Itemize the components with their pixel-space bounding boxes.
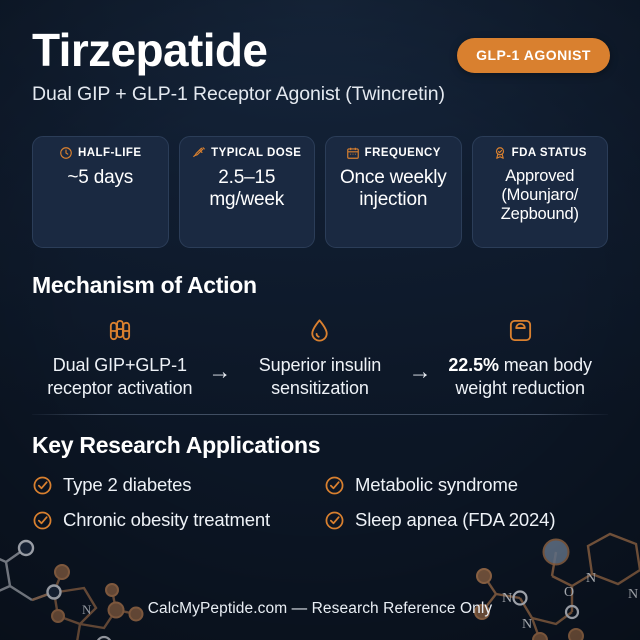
calendar-icon bbox=[346, 146, 360, 160]
status-badge: GLP-1 AGONIST bbox=[457, 38, 610, 73]
page-subtitle: Dual GIP + GLP-1 Receptor Agonist (Twinc… bbox=[32, 83, 610, 106]
mechanism-section: Mechanism of Action Dual GIP+GLP-1 recep… bbox=[32, 272, 608, 400]
stat-card-label: FREQUENCY bbox=[365, 147, 441, 159]
list-item: Metabolic syndrome bbox=[324, 474, 608, 496]
list-item-label: Sleep apnea (FDA 2024) bbox=[355, 509, 555, 531]
stat-card-label: HALF-LIFE bbox=[78, 147, 141, 159]
mechanism-step-2: Superior insulin sensitization bbox=[232, 315, 408, 400]
applications-section: Key Research Applications Type 2 diabete… bbox=[32, 432, 608, 531]
mechanism-step-text: Dual GIP+GLP-1 receptor activation bbox=[32, 354, 208, 400]
droplet-icon bbox=[306, 315, 333, 345]
check-circle-icon bbox=[324, 475, 345, 496]
list-item-label: Type 2 diabetes bbox=[63, 474, 191, 496]
list-item: Type 2 diabetes bbox=[32, 474, 316, 496]
list-item: Chronic obesity treatment bbox=[32, 509, 316, 531]
check-circle-icon bbox=[324, 510, 345, 531]
footer-text: CalcMyPeptide.com — Research Reference O… bbox=[0, 600, 640, 618]
mechanism-step-text: 22.5% mean body weight reduction bbox=[432, 354, 608, 400]
scale-icon bbox=[507, 315, 534, 345]
check-circle-icon bbox=[32, 475, 53, 496]
section-divider bbox=[32, 414, 608, 415]
check-circle-icon bbox=[32, 510, 53, 531]
clock-icon bbox=[59, 146, 73, 160]
applications-title: Key Research Applications bbox=[32, 432, 608, 459]
list-item: Sleep apnea (FDA 2024) bbox=[324, 509, 608, 531]
mechanism-step-3: 22.5% mean body weight reduction bbox=[432, 315, 608, 400]
mechanism-step-text: Superior insulin sensitization bbox=[232, 354, 408, 400]
arrow-right-icon: → bbox=[208, 360, 233, 383]
stat-card-value: ~5 days bbox=[67, 167, 133, 189]
stat-card-frequency: FREQUENCY Once weekly injection bbox=[325, 136, 462, 248]
stat-card-value: Once weekly injection bbox=[332, 167, 455, 211]
stat-card-header: TYPICAL DOSE bbox=[192, 146, 301, 160]
applications-grid: Type 2 diabetes Metabolic syndrome Chron… bbox=[32, 474, 608, 531]
syringe-icon bbox=[192, 146, 206, 160]
stat-card-fda-status: FDA STATUS Approved (Mounjaro/ Zepbound) bbox=[472, 136, 609, 248]
mechanism-title: Mechanism of Action bbox=[32, 272, 608, 299]
mechanism-step-emphasis: 22.5% bbox=[448, 355, 499, 375]
stat-card-label: FDA STATUS bbox=[512, 147, 587, 159]
stat-card-half-life: HALF-LIFE ~5 days bbox=[32, 136, 169, 248]
stat-card-header: HALF-LIFE bbox=[59, 146, 141, 160]
award-icon bbox=[493, 146, 507, 160]
stat-card-grid: HALF-LIFE ~5 days TYPICAL DOSE 2.5–15 mg… bbox=[32, 136, 608, 248]
list-item-label: Metabolic syndrome bbox=[355, 474, 518, 496]
mechanism-steps: Dual GIP+GLP-1 receptor activation → Sup… bbox=[32, 315, 608, 400]
header: Tirzepatide Dual GIP + GLP-1 Receptor Ag… bbox=[32, 26, 610, 106]
stat-card-header: FDA STATUS bbox=[493, 146, 587, 160]
stat-card-value: 2.5–15 mg/week bbox=[186, 167, 309, 211]
stat-card-label: TYPICAL DOSE bbox=[211, 147, 301, 159]
arrow-right-icon-2: → bbox=[408, 360, 433, 383]
stat-card-value: Approved (Mounjaro/ Zepbound) bbox=[479, 167, 602, 224]
mechanism-step-1: Dual GIP+GLP-1 receptor activation bbox=[32, 315, 208, 400]
stat-card-header: FREQUENCY bbox=[346, 146, 441, 160]
stat-card-typical-dose: TYPICAL DOSE 2.5–15 mg/week bbox=[179, 136, 316, 248]
capsules-icon bbox=[106, 315, 133, 345]
list-item-label: Chronic obesity treatment bbox=[63, 509, 270, 531]
infographic-card: Tirzepatide Dual GIP + GLP-1 Receptor Ag… bbox=[0, 0, 640, 640]
